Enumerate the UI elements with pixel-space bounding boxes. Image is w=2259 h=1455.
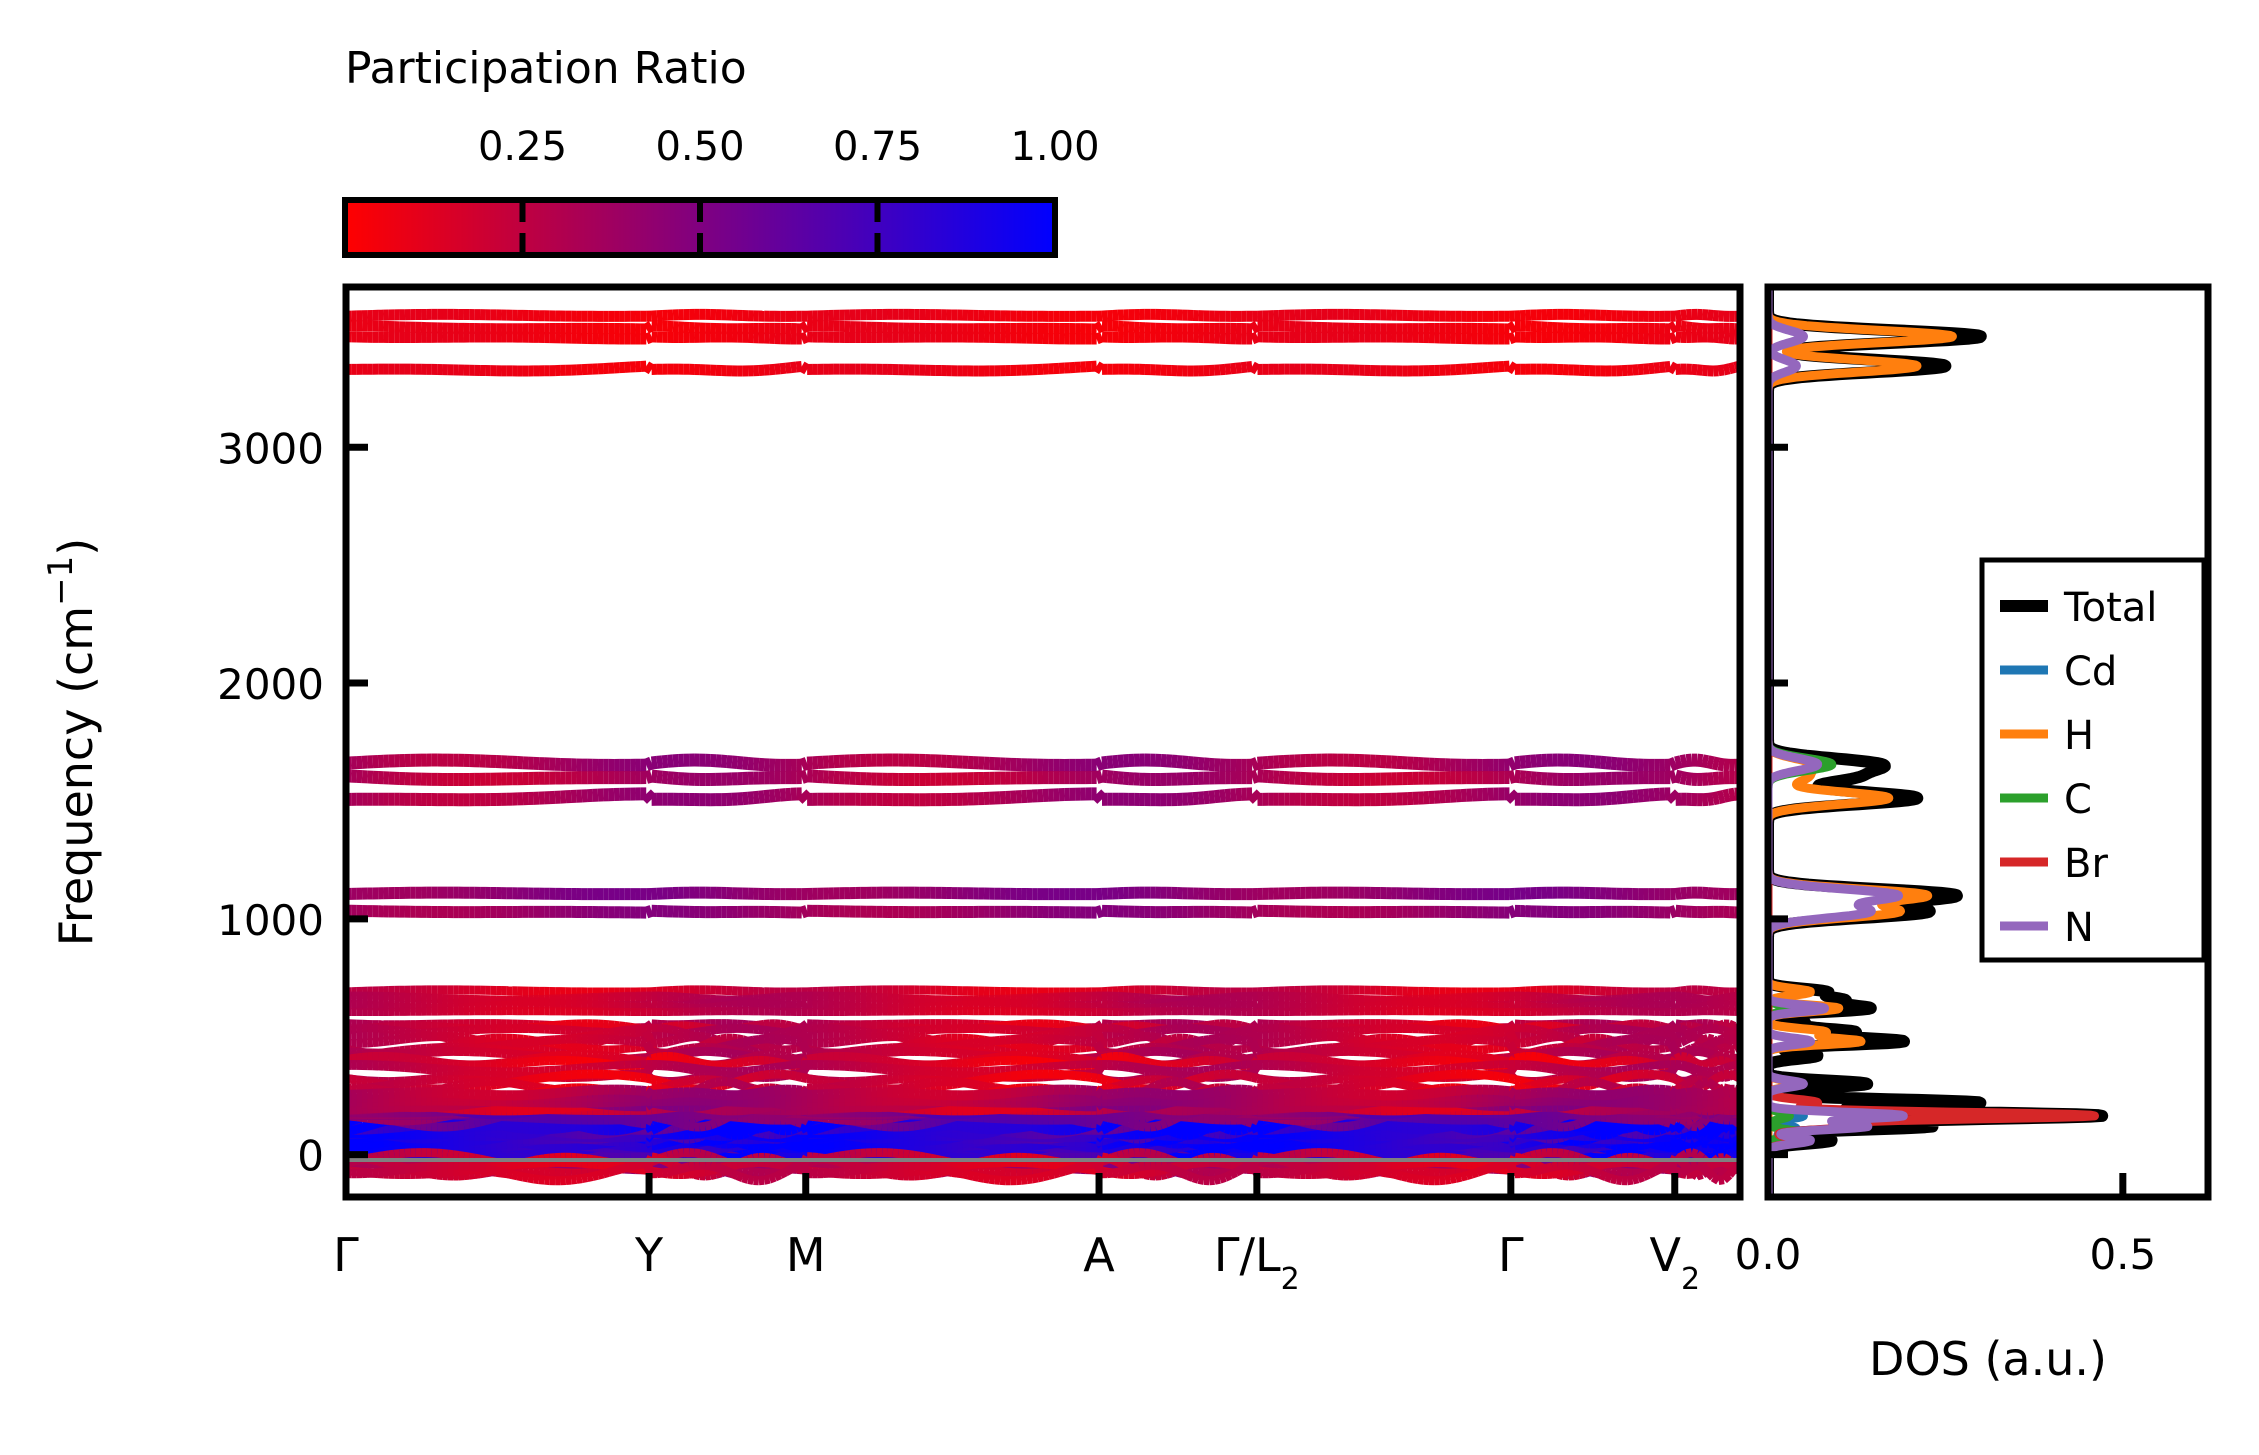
band-segment [1531,1006,1536,1007]
band-segment [1719,1024,1724,1026]
band-segment [1156,1002,1161,1003]
band-segment [1477,1024,1482,1025]
band-segment [1064,1031,1069,1032]
band-segment [1231,1032,1236,1034]
band-segment [1209,797,1214,798]
band-segment [1724,338,1729,339]
band-segment [1676,776,1681,777]
band-segment [1515,776,1520,777]
band-segment [1102,762,1107,763]
band-segment [780,1006,785,1007]
band-segment [1520,777,1525,778]
band-segment [1724,369,1729,370]
band-segment [1123,1030,1128,1031]
band-segment [727,1005,732,1006]
band-segment [389,1040,394,1041]
band-segment [1681,990,1686,991]
band-segment [1627,1024,1632,1025]
band-segment [850,1030,855,1031]
band-segment [1542,1031,1547,1032]
band-segment [1702,1029,1707,1030]
band-segment [1531,1029,1536,1030]
band-segment [1643,369,1648,370]
band-segment [716,1007,721,1008]
band-segment [598,1033,603,1034]
band-segment [1708,1004,1713,1005]
band-segment [764,1030,769,1031]
band-segment [1719,1004,1724,1005]
band-segment [1649,1024,1654,1025]
band-segment [1724,999,1729,1000]
band-segment [400,1031,405,1032]
band-segment [1225,1005,1230,1006]
band-segment [1719,370,1724,371]
band-segment [1107,777,1112,778]
band-segment [855,1030,860,1031]
band-segment [1145,1026,1150,1027]
band-segment [410,1038,415,1039]
band-segment [378,1042,383,1043]
band-segment [652,762,657,763]
band-segment [1627,797,1632,798]
band-segment [1692,998,1697,999]
band-segment [1595,1005,1600,1006]
band-segment [603,1032,608,1033]
band-segment [786,1024,791,1025]
band-segment [1166,1029,1171,1030]
band-segment [780,1032,785,1034]
band-segment [1676,762,1681,763]
band-segment [1686,327,1691,328]
band-segment [673,1030,678,1031]
band-segment [866,1032,871,1033]
colorbar-tick-label-2: 0.75 [833,124,922,170]
band-segment [1177,1005,1182,1006]
band-segment [1526,1006,1531,1007]
band-segment [1676,893,1681,894]
band-segment [775,369,780,370]
band-segment [1204,1029,1209,1030]
band-segment [1118,1029,1123,1030]
band-segment [1681,777,1686,778]
band-segment [1708,762,1713,763]
band-segment [1563,1003,1568,1004]
band-segment [1526,1028,1531,1029]
band-segment [405,1038,410,1039]
band-segment [609,1031,614,1032]
band-segment [657,1005,662,1006]
band-segment [770,796,775,797]
band-segment [1665,366,1670,367]
band-segment [1113,1028,1118,1029]
band-segment [1209,1030,1214,1031]
band-segment [1483,1025,1488,1026]
band-segment [845,1029,850,1030]
band-segment [1107,762,1112,763]
band-segment [1290,1029,1295,1030]
band-segment [1070,1025,1075,1026]
band-segment [652,776,657,777]
band-segment [1676,1005,1681,1006]
band-segment [1515,762,1520,763]
band-segment [1729,998,1734,999]
band-segment [1064,1025,1069,1026]
band-segment [662,1006,667,1007]
band-segment [1520,1005,1525,1006]
band-segment [1708,799,1713,800]
band-segment [700,1003,705,1004]
band-segment [1590,1006,1595,1007]
band-segment [410,1032,415,1033]
band-segment [1681,761,1686,762]
band-segment [796,366,801,367]
band-segment [1311,1032,1316,1033]
band-segment [614,1025,619,1026]
band-segment [780,1024,785,1025]
band-segment [1729,367,1734,368]
band-segment [700,1031,705,1032]
band-segment [753,1029,758,1030]
band-segment [791,367,796,368]
band-segment [1681,1028,1686,1030]
band-segment [1654,368,1659,369]
band-segment [1708,991,1713,992]
band-segment [1697,1030,1702,1032]
phonon-figure: Participation Ratio 0.250.500.751.00 010… [0,0,2259,1455]
band-segment [1477,1031,1482,1032]
band-segment [394,1040,399,1041]
colorbar-tick-label-0: 0.25 [478,124,567,170]
band-segment [1633,1030,1638,1031]
colorbar-title: Participation Ratio [345,43,747,94]
band-segment [786,368,791,369]
band-segment [721,1006,726,1007]
band-segment [1681,326,1686,327]
band-segment [716,1029,721,1030]
band-segment [1713,798,1718,799]
band-segment [1150,1003,1155,1004]
band-segment [1686,760,1691,761]
band-segment [775,1005,780,1006]
band-segment [1627,1030,1632,1031]
band-segment [732,1005,737,1006]
band-segment [1113,1006,1118,1007]
band-segment [1241,367,1246,368]
band-segment [459,1037,464,1038]
band-segment [1054,1032,1059,1033]
band-segment [1724,1004,1729,1005]
band-segment [1231,1006,1236,1007]
band-segment [1579,1007,1584,1008]
band-segment [1638,795,1643,796]
band-segment [394,1030,399,1031]
band-segment [1729,1006,1734,1007]
band-segment [1719,338,1724,339]
band-segment [1702,761,1707,762]
band-segment [1225,369,1230,370]
band-segment [1295,1030,1300,1031]
band-segment [1649,1032,1654,1034]
band-segment [1574,1030,1579,1031]
band-segment [1568,1002,1573,1003]
band-segment [1107,1005,1112,1006]
band-segment [1059,1032,1064,1033]
band-segment [1558,1026,1563,1027]
band-segment [1686,997,1691,998]
band-segment [1150,1031,1155,1032]
band-segment [673,1007,678,1008]
band-segment [1563,1031,1568,1032]
band-segment [1713,1028,1718,1029]
band-segment [1161,1030,1166,1031]
band-segment [1729,1024,1734,1026]
band-segment [1247,366,1252,367]
band-segment [764,796,769,797]
band-segment [1579,1029,1584,1030]
band-segment [1622,1029,1627,1030]
band-segment [1536,1007,1541,1008]
band-segment [1182,1005,1187,1006]
band-segment [1166,1007,1171,1008]
band-segment [1676,315,1681,316]
band-segment [1102,776,1107,777]
band-segment [759,797,764,798]
band-segment [668,1006,673,1007]
band-segment [1681,1006,1686,1007]
band-segment [1697,370,1702,371]
band-segment [1231,368,1236,369]
band-segment [705,1030,710,1031]
band-segment [614,1031,619,1032]
band-segment [1172,1006,1177,1007]
band-segment [1220,1031,1225,1032]
band-segment [1215,1030,1220,1031]
band-segment [695,1026,700,1027]
band-segment [780,368,785,369]
band-segment [1118,1006,1123,1007]
band-segment [1220,796,1225,797]
band-segment [1719,1029,1724,1030]
band-segment [1686,778,1691,779]
band-segment [711,1030,716,1031]
band-segment [1649,368,1654,369]
band-segment [609,1024,614,1025]
band-segment [1622,797,1627,798]
band-segment [662,1028,667,1029]
band-segment [1692,328,1697,329]
band-segment [1472,1032,1477,1033]
band-segment [1467,1033,1472,1034]
colorbar-tick-label-1: 0.50 [655,124,744,170]
band-segment [1204,797,1209,798]
band-segment [1536,1030,1541,1031]
band-segment [1215,796,1220,797]
band-segment [678,1031,683,1033]
band-segment [1434,1024,1439,1025]
band-segment [759,1024,764,1025]
band-segment [1236,1024,1241,1025]
band-segment [1284,1029,1289,1030]
band-segment [662,777,667,778]
band-segment [1113,777,1118,778]
band-segment [657,777,662,778]
band-segment [753,797,758,798]
band-segment [1719,796,1724,797]
band-segment [1719,764,1724,765]
band-segment [668,1029,673,1030]
band-segment [861,1031,866,1032]
band-segment [1129,1031,1134,1033]
band-segment [405,1031,410,1032]
band-segment [1300,1030,1305,1031]
band-segment [1306,1031,1311,1032]
band-segment [1123,1007,1128,1008]
band-segment [400,1039,405,1040]
band-segment [1660,367,1665,368]
band-segment [705,1002,710,1003]
band-segment [619,1025,624,1026]
band-segment [1724,795,1729,796]
band-segment [1568,1030,1573,1031]
band-segment [384,1029,389,1030]
band-segment [1729,794,1734,795]
band-segment [1048,1033,1053,1034]
band-segment [1654,1024,1659,1025]
figure-canvas: Participation Ratio 0.250.500.751.00 010… [0,0,2259,1455]
band-segment [1681,315,1686,316]
band-segment [389,1029,394,1030]
band-segment [1702,1006,1707,1008]
band-segment [384,1041,389,1042]
band-segment [1156,1030,1161,1031]
band-segment [1059,1024,1064,1025]
band-segment [1209,1024,1214,1025]
colorbar-tick-label-3: 1.00 [1010,124,1099,170]
band-segment [1231,1024,1236,1025]
band-segment [1633,796,1638,797]
band-segment [1585,1006,1590,1007]
band-segment [1713,763,1718,764]
band-segment [1520,762,1525,763]
band-segment [1697,760,1702,761]
band-segment [657,762,662,763]
band-segment [1643,1005,1648,1006]
band-segment [759,1030,764,1031]
band-segment [1236,368,1241,369]
